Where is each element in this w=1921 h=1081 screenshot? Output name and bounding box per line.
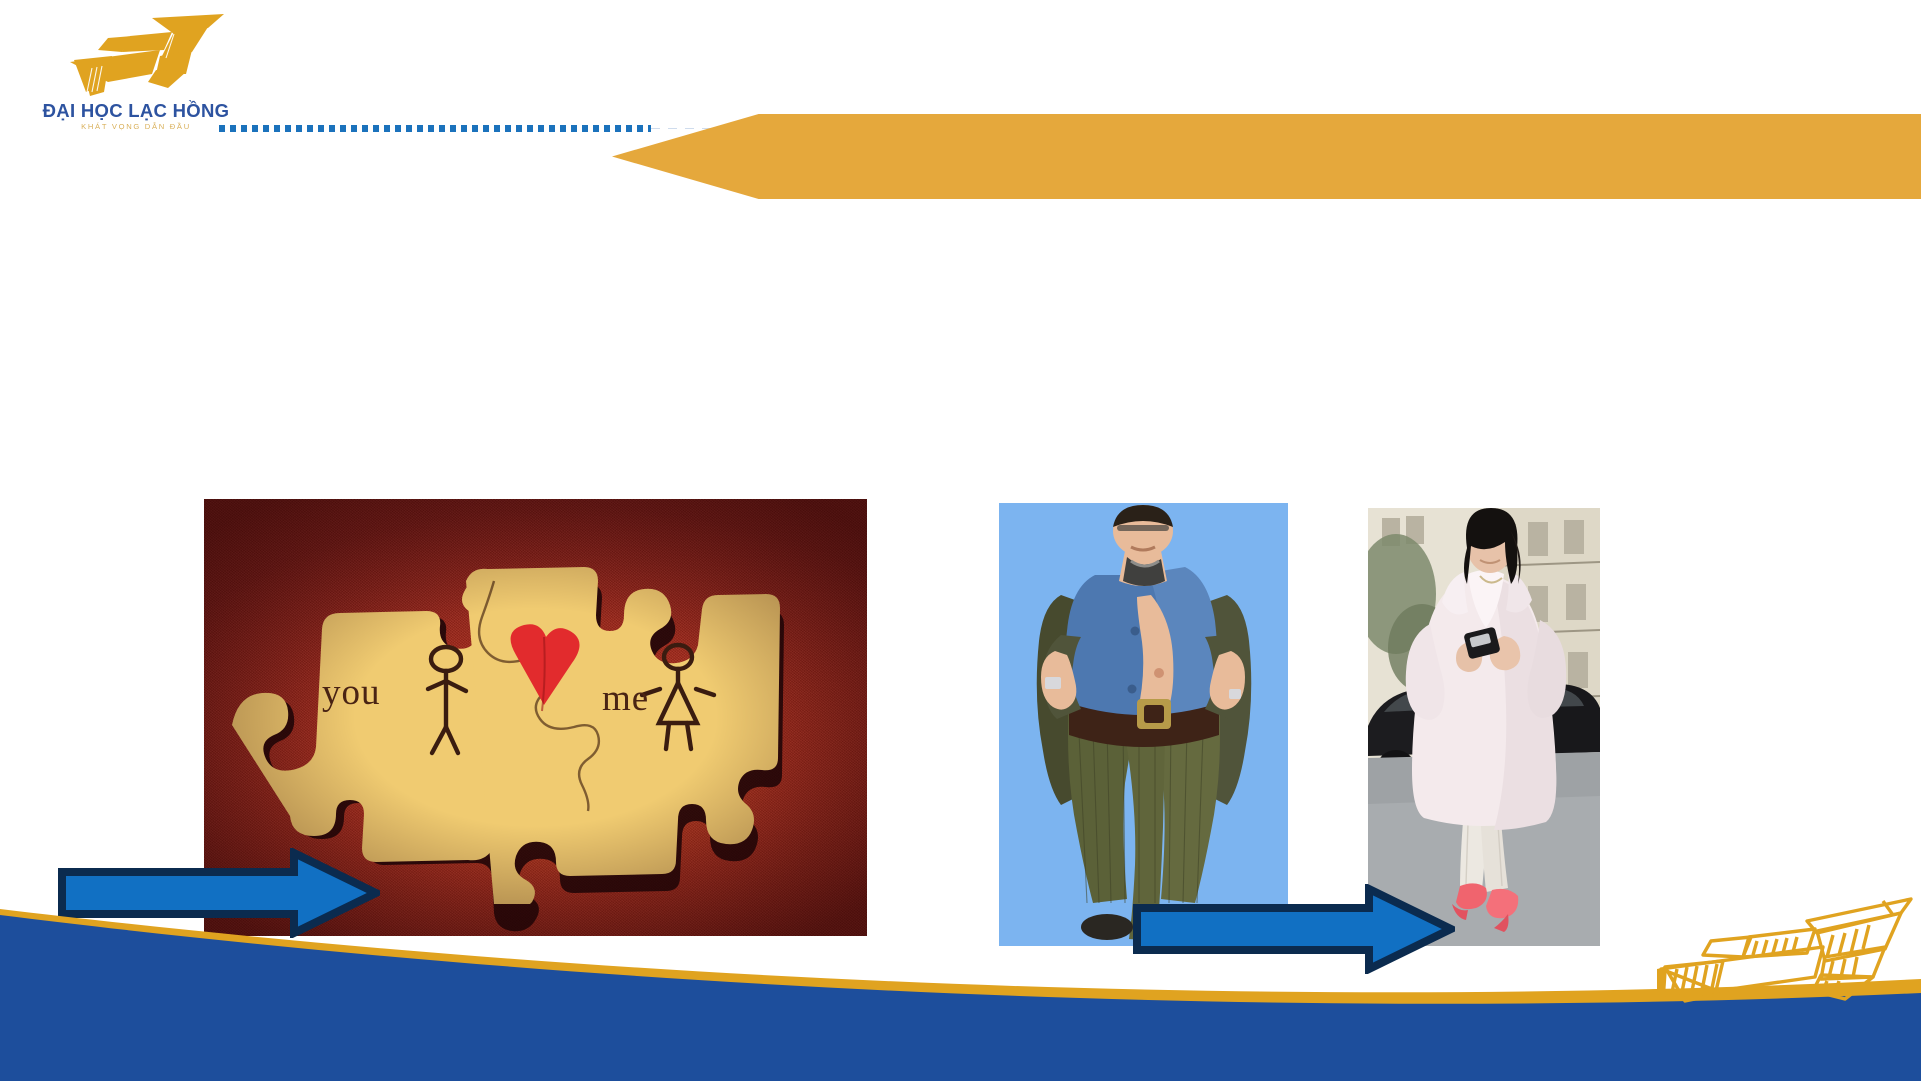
dotted-rule-icon [219,125,651,132]
slide-canvas: ĐẠI HỌC LẠC HỒNG KHÁT VỌNG DẪN ĐẦU [0,0,1921,1081]
origami-bird-outline-icon [1657,891,1921,1009]
header-gold-banner [612,114,1921,199]
woman-oversized-pink-coat[interactable] [1368,508,1600,946]
university-tagline: KHÁT VỌNG DẪN ĐẦU [26,122,246,131]
content-area [200,240,1700,470]
blue-arrow-right-2[interactable] [1133,884,1455,974]
overweight-man-open-jacket[interactable] [999,503,1288,946]
blue-arrow-right-1[interactable] [58,848,380,938]
origami-bird-logo-icon [56,12,226,98]
paris-street-fashion-graphic [1368,508,1600,946]
university-name: ĐẠI HỌC LẠC HỒNG [26,100,246,122]
overweight-man-graphic [999,503,1288,946]
university-logo[interactable]: ĐẠI HỌC LẠC HỒNG KHÁT VỌNG DẪN ĐẦU [26,12,246,137]
